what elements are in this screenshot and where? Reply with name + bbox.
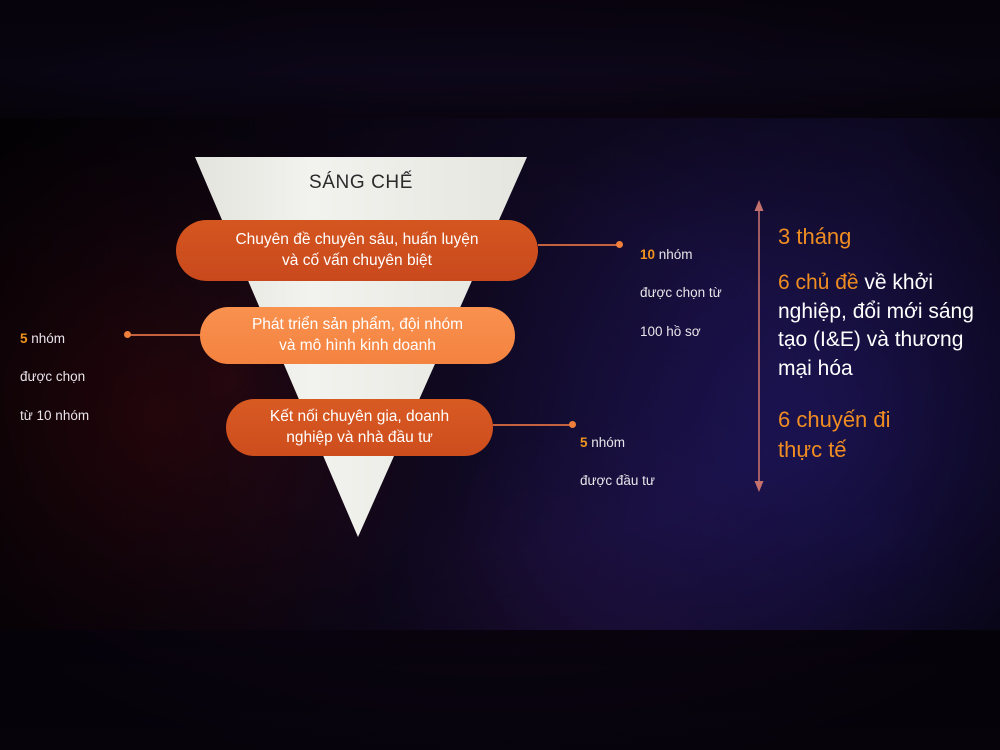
callout-right-top: 10 nhóm được chọn từ 100 hồ sơ [640, 226, 755, 341]
callout-left-middle: 5 nhóm được chọn từ 10 nhóm [20, 310, 130, 425]
callout-left-middle-line3: từ 10 nhóm [20, 408, 89, 423]
summary-topics-line4: mại hóa [778, 357, 853, 380]
callout-left-middle-line2: được chọn [20, 369, 85, 384]
callout-right-top-line3: 100 hồ sơ [640, 324, 701, 339]
summary-topics-line3: tạo (I&E) và thương [778, 328, 963, 351]
connector-dot-stage-1 [616, 241, 623, 248]
connector-line-stage-3 [493, 424, 571, 426]
stage-1-line-1: Chuyên đề chuyên sâu, huấn luyện [235, 231, 478, 248]
funnel-title: SÁNG CHẾ [195, 172, 527, 194]
connector-line-stage-2 [126, 334, 202, 336]
stage-1-line-2: và cố vấn chuyên biệt [282, 252, 432, 269]
summary-trips-line2: thực tế [778, 437, 847, 462]
stage-2-line-2: và mô hình kinh doanh [279, 337, 436, 354]
slide-canvas: SÁNG CHẾ Chuyên đề chuyên sâu, huấn luyệ… [0, 0, 1000, 750]
summary-trips: 6 chuyến đi thực tế [778, 405, 990, 464]
callout-left-middle-number: 5 [20, 331, 28, 346]
summary-block: 3 tháng 6 chủ đề về khởi nghiệp, đổi mới… [778, 222, 990, 482]
summary-topics-line1: về khởi [859, 271, 933, 294]
callout-left-middle-unit: nhóm [28, 331, 66, 346]
funnel-stage-1-text: Chuyên đề chuyên sâu, huấn luyện và cố v… [235, 230, 478, 271]
connector-line-stage-1 [538, 244, 618, 246]
funnel-stage-3-text: Kết nối chuyên gia, doanh nghiệp và nhà … [270, 407, 449, 448]
summary-trips-line1: 6 chuyến đi [778, 407, 891, 432]
background-band-top [0, 0, 1000, 120]
callout-right-top-number: 10 [640, 247, 655, 262]
funnel-stage-3[interactable]: Kết nối chuyên gia, doanh nghiệp và nhà … [226, 399, 493, 456]
summary-topics-count: 6 chủ đề [778, 271, 859, 294]
callout-right-bottom-line2: được đầu tư [580, 473, 655, 488]
funnel-stage-1[interactable]: Chuyên đề chuyên sâu, huấn luyện và cố v… [176, 220, 538, 281]
stage-3-line-2: nghiệp và nhà đầu tư [286, 429, 433, 446]
background-band-bottom [0, 630, 1000, 750]
callout-right-bottom-unit: nhóm [588, 435, 626, 450]
summary-topics-line2: nghiệp, đổi mới sáng [778, 300, 974, 323]
stage-2-line-1: Phát triển sản phẩm, đội nhóm [252, 316, 463, 333]
summary-duration-text: 3 tháng [778, 222, 990, 251]
connector-dot-stage-3 [569, 421, 576, 428]
funnel-stage-2[interactable]: Phát triển sản phẩm, đội nhóm và mô hình… [200, 307, 515, 364]
funnel-stage-2-text: Phát triển sản phẩm, đội nhóm và mô hình… [252, 315, 463, 356]
summary-topics: 6 chủ đề về khởi nghiệp, đổi mới sáng tạ… [778, 269, 990, 383]
summary-duration: 3 tháng [778, 222, 990, 251]
duration-bracket-arrow [748, 200, 770, 492]
callout-right-bottom: 5 nhóm được đầu tư [580, 414, 700, 491]
callout-right-top-unit: nhóm [655, 247, 693, 262]
stage-3-line-1: Kết nối chuyên gia, doanh [270, 408, 449, 425]
callout-right-bottom-number: 5 [580, 435, 588, 450]
callout-right-top-line2: được chọn từ [640, 285, 722, 300]
